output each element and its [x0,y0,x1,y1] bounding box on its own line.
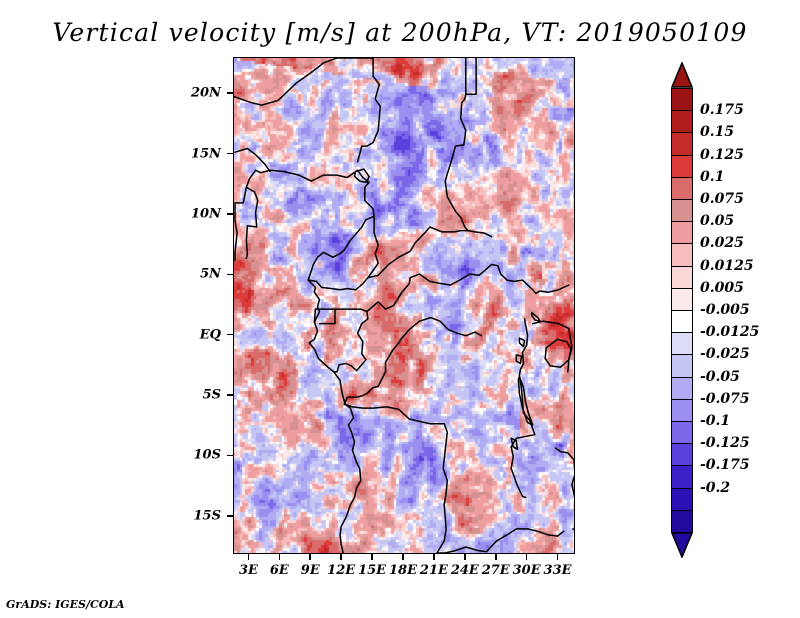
colorbar-label-_0_05: -0.05 [700,369,740,385]
colorbar-cell [671,155,693,179]
colorbar-cell [671,266,693,290]
grads-credit: GrADS: IGES/COLA [6,598,125,611]
colorbar-cell [671,243,693,267]
lon-label-9E: 9E [301,563,320,578]
border-polyline [519,338,524,346]
colorbar-cell [671,88,693,112]
colorbar-cell [671,177,693,201]
border-polyline [235,149,270,172]
lon-label-18E: 18E [389,563,417,578]
lon-tick [433,554,435,560]
colorbar-label-_0_2: -0.2 [700,480,730,496]
border-polyline [367,265,536,312]
border-polyline [344,339,401,404]
lat-tick [227,515,233,517]
colorbar-cell [671,510,693,534]
lat-label-10N: 10N [173,206,221,221]
colorbar-label-0_1: 0.1 [700,169,724,185]
colorbar [671,62,693,558]
colorbar-label-_0_0125: -0.0125 [700,324,759,340]
lat-label-5N: 5N [173,267,221,282]
lat-tick [227,394,233,396]
colorbar-label-0_025: 0.025 [700,235,744,251]
lon-tick [526,554,528,560]
page-title: Vertical velocity [m/s] at 200hPa, VT: 2… [0,18,800,47]
colorbar-label-_0_075: -0.075 [700,391,750,407]
border-polyline [308,216,378,290]
border-polyline [437,529,564,553]
lon-label-33E: 33E [544,563,572,578]
border-polyline [437,424,447,553]
lon-tick [557,554,559,560]
colorbar-arrow-top [671,62,693,88]
lat-label-15N: 15N [173,146,221,161]
colorbar-cell [671,332,693,356]
lon-tick [248,554,250,560]
lat-tick [227,92,233,94]
border-polyline [234,58,337,105]
lon-tick [340,554,342,560]
border-polyline [345,405,444,424]
colorbar-label-0_0125: 0.0125 [700,258,754,274]
lon-label-21E: 21E [420,563,448,578]
colorbar-label-_0_125: -0.125 [700,435,750,451]
colorbar-label-_0_025: -0.025 [700,346,750,362]
lat-label-20N: 20N [173,86,221,101]
border-polyline [256,170,375,280]
border-polyline [533,321,572,372]
lon-label-24E: 24E [451,563,479,578]
border-polyline [466,58,476,94]
border-polyline [401,318,481,340]
border-polyline [556,448,575,533]
lat-label-5S: 5S [173,388,221,403]
colorbar-label-_0_005: -0.005 [700,302,750,318]
map-plot-area [233,57,575,554]
border-polyline [337,58,380,162]
border-polyline [246,170,257,258]
colorbar-cell [671,354,693,378]
lat-label-15S: 15S [173,508,221,523]
colorbar-cell [671,488,693,512]
border-polyline [334,309,368,372]
lon-label-12E: 12E [327,563,355,578]
lon-tick [495,554,497,560]
colorbar-cell [671,132,693,156]
colorbar-label-_0_175: -0.175 [700,457,750,473]
colorbar-arrow-bottom [671,532,693,558]
colorbar-cell [671,310,693,334]
lon-label-27E: 27E [482,563,510,578]
border-polyline [235,187,246,261]
border-polyline [545,339,571,367]
colorbar-cell [671,221,693,245]
lon-tick [309,554,311,560]
colorbar-cell [671,377,693,401]
country-borders-overlay [234,58,574,553]
lat-label-EQ: EQ [173,327,221,342]
lat-tick [227,153,233,155]
colorbar-cell [671,110,693,134]
border-polyline [368,227,468,278]
lon-tick [279,554,281,560]
colorbar-label-0_05: 0.05 [700,213,734,229]
colorbar-label-0_005: 0.005 [700,280,744,296]
colorbar-label-_0_1: -0.1 [700,413,730,429]
lon-tick [402,554,404,560]
lat-label-10S: 10S [173,448,221,463]
colorbar-cell [671,199,693,223]
lon-tick [371,554,373,560]
colorbar-label-0_15: 0.15 [700,124,734,140]
colorbar-cell [671,465,693,489]
lat-tick [227,455,233,457]
lat-tick [227,274,233,276]
colorbar-cell [671,288,693,312]
lon-label-6E: 6E [270,563,289,578]
lon-label-15E: 15E [358,563,386,578]
colorbar-cell [671,399,693,423]
colorbar-cell [671,443,693,467]
colorbar-label-0_125: 0.125 [700,147,744,163]
border-polyline [536,285,569,293]
border-polyline [445,94,491,237]
lon-label-3E: 3E [239,563,258,578]
colorbar-cell [671,421,693,445]
border-polyline [516,355,521,364]
colorbar-label-0_175: 0.175 [700,102,744,118]
lon-label-30E: 30E [513,563,541,578]
lat-tick [227,334,233,336]
lon-tick [464,554,466,560]
border-polyline [532,313,540,322]
lat-tick [227,213,233,215]
colorbar-label-0_075: 0.075 [700,191,744,207]
